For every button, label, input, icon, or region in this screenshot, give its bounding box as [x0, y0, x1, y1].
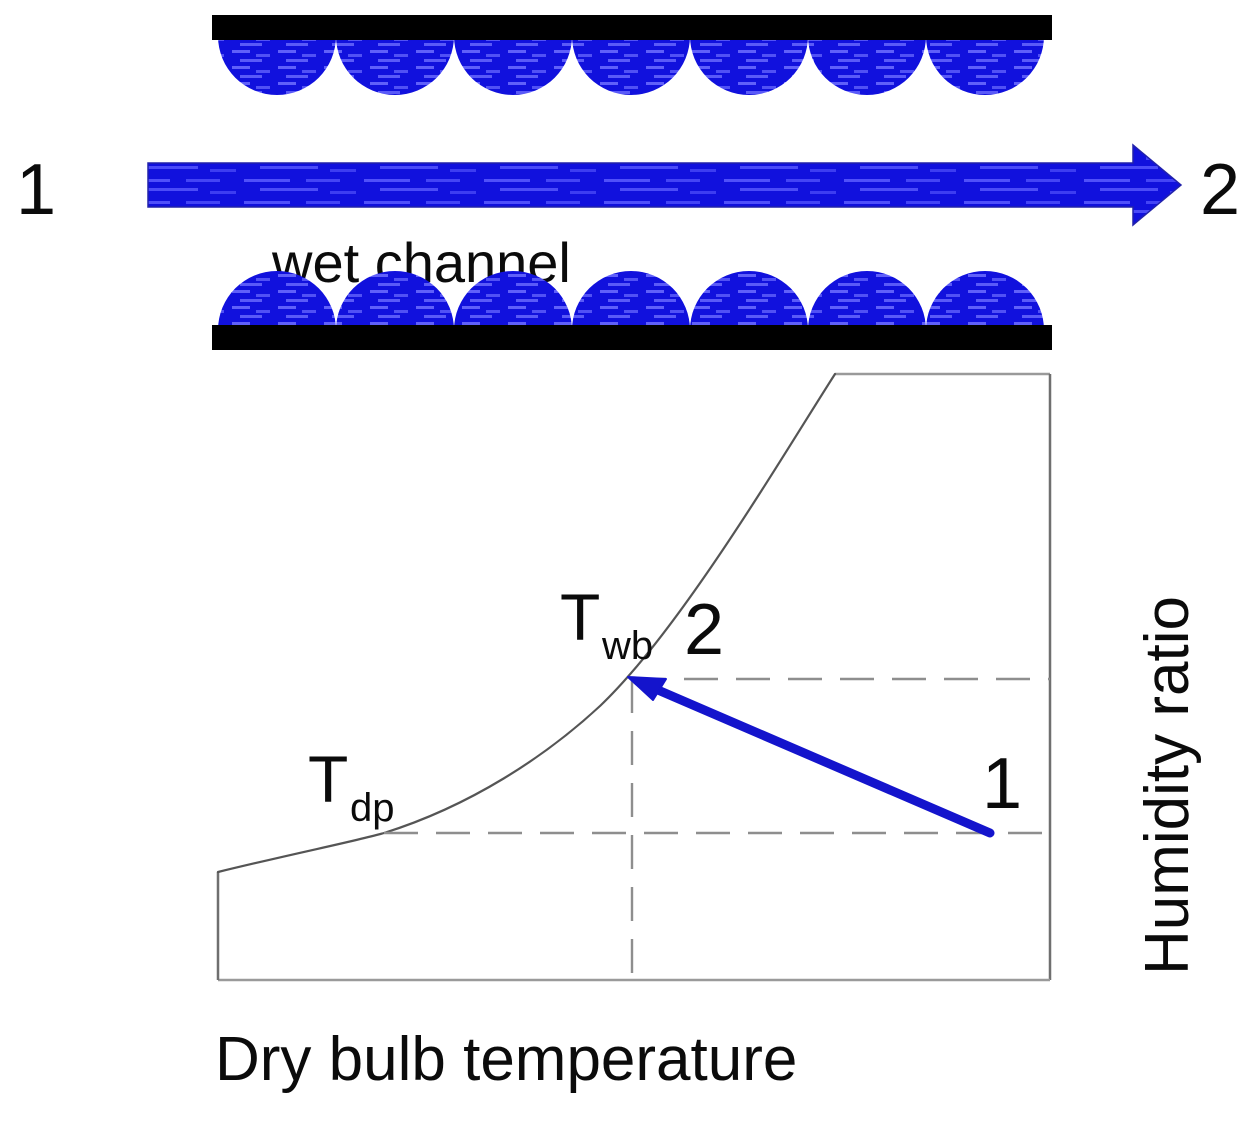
state-1-label: 1	[982, 744, 1022, 824]
evaporative-cooling-process-arrow	[628, 677, 990, 833]
top-droplet-row	[215, 30, 1050, 122]
air-flow-arrow	[148, 145, 1181, 225]
wet-channel-schematic: 1 2 wet channel	[16, 15, 1240, 350]
water-droplets-top	[215, 30, 1050, 122]
x-axis-title: Dry bulb temperature	[215, 1025, 797, 1094]
dew-point-symbol: T	[308, 742, 348, 816]
schematic-outlet-label: 2	[1200, 150, 1240, 230]
figure-root: 1 2 wet channel	[0, 0, 1260, 1124]
psychrometric-chart: T wb T dp 2 1 Dry bulb temperature Humid…	[215, 374, 1202, 1094]
wet-bulb-subscript: wb	[601, 624, 653, 668]
air-flow-arrow-shape	[148, 145, 1181, 225]
bottom-wall	[212, 325, 1052, 350]
diagram-canvas: 1 2 wet channel	[0, 0, 1260, 1124]
schematic-inlet-label: 1	[16, 150, 56, 230]
y-axis-title: Humidity ratio	[1133, 596, 1202, 975]
wet-bulb-temperature-label: T wb	[560, 580, 653, 668]
wet-bulb-symbol: T	[560, 580, 600, 654]
dew-point-subscript: dp	[350, 786, 395, 830]
process-arrowhead	[628, 677, 666, 700]
state-2-label: 2	[684, 590, 724, 670]
dew-point-temperature-label: T dp	[308, 742, 395, 830]
process-line-1-to-2	[644, 684, 990, 833]
top-wall	[212, 15, 1052, 40]
